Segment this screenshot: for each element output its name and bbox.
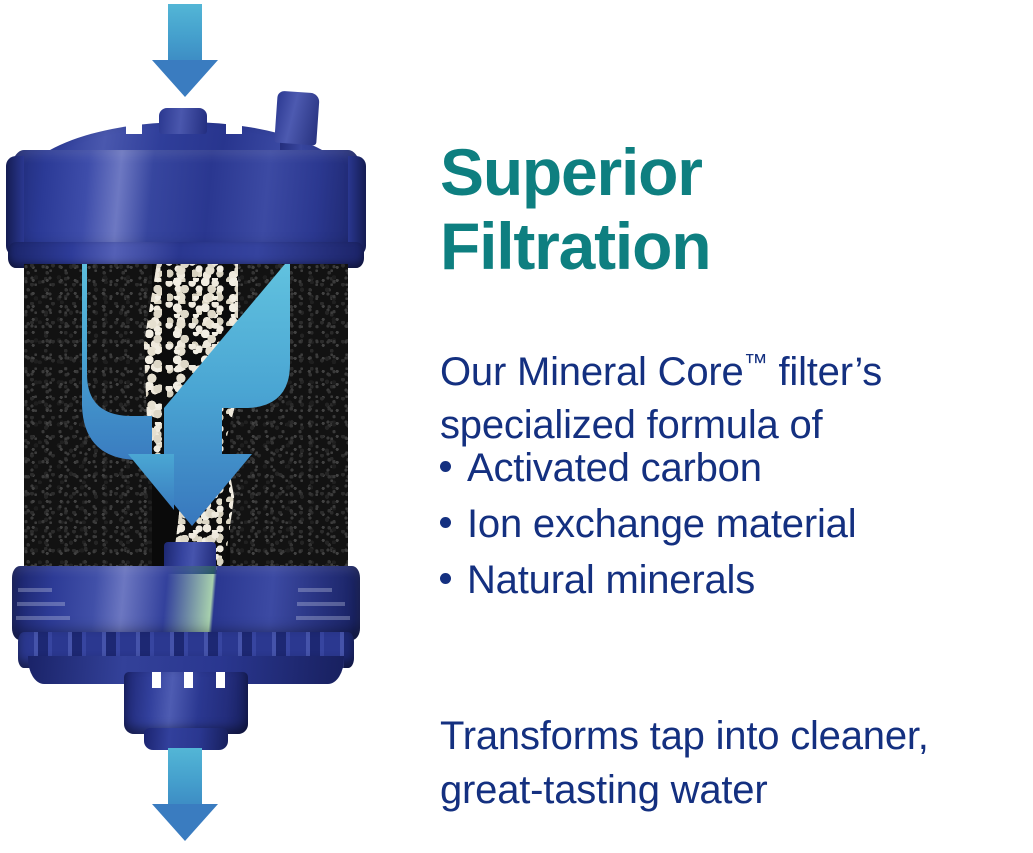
arrow-shaft	[168, 4, 202, 62]
cap-center-nub	[159, 108, 207, 134]
water-outlet-arrow-icon	[146, 748, 224, 844]
list-item: Natural minerals	[440, 552, 1015, 608]
arrow-head	[152, 60, 218, 97]
bullet-dot-icon	[440, 517, 451, 528]
lede-line-1: Our Mineral Core™ filter’s	[440, 346, 1015, 399]
closing-line-2: great-tasting water	[440, 763, 1033, 817]
neck-notch-a	[152, 672, 161, 688]
lede-line-1-before-tm: Our Mineral Core	[440, 350, 744, 394]
molded-text-left	[16, 582, 74, 628]
bullet-dot-icon	[440, 461, 451, 472]
infographic-page: Superior Filtration Our Mineral Core™ fi…	[0, 0, 1033, 853]
filter-cartridge	[2, 104, 370, 744]
cap-edge-right	[348, 156, 366, 256]
lede-line-1-after-tm: filter’s	[768, 350, 883, 394]
filter-cutaway-window	[24, 264, 348, 574]
water-inlet-arrow-icon	[146, 4, 224, 100]
neck-notch-b	[184, 672, 193, 688]
arrow-head	[152, 804, 218, 841]
closing-line-1: Transforms tap into cleaner,	[440, 709, 1033, 763]
neck-notch-c	[216, 672, 225, 688]
page-title: Superior Filtration	[440, 136, 1000, 284]
bullet-dot-icon	[440, 573, 451, 584]
list-item: Activated carbon	[440, 440, 1015, 496]
list-item: Ion exchange material	[440, 496, 1015, 552]
flow-path-left	[82, 264, 152, 460]
outlet-spout	[144, 728, 228, 750]
list-item-label: Activated carbon	[467, 440, 762, 496]
trademark-symbol: ™	[744, 350, 768, 377]
list-item-label: Natural minerals	[467, 552, 755, 608]
title-line-2: Filtration	[440, 210, 1000, 284]
cap-notch-left	[126, 112, 142, 134]
arrow-shaft	[168, 748, 202, 806]
water-flow-arrows-icon	[24, 264, 348, 574]
closing-paragraph: Transforms tap into cleaner, great-tasti…	[440, 709, 1033, 817]
list-item-label: Ion exchange material	[467, 496, 856, 552]
cap-edge-left	[6, 156, 24, 256]
title-line-1: Superior	[440, 136, 1000, 210]
ingredient-list: Activated carbon Ion exchange material N…	[440, 440, 1015, 608]
text-column: Superior Filtration Our Mineral Core™ fi…	[440, 0, 1033, 853]
cap-side-tab	[274, 91, 320, 146]
lede-paragraph: Our Mineral Core™ filter’s specialized f…	[440, 346, 1015, 452]
molded-text-right	[296, 582, 354, 628]
filter-illustration	[0, 0, 415, 853]
cap-notch-right	[226, 112, 242, 134]
